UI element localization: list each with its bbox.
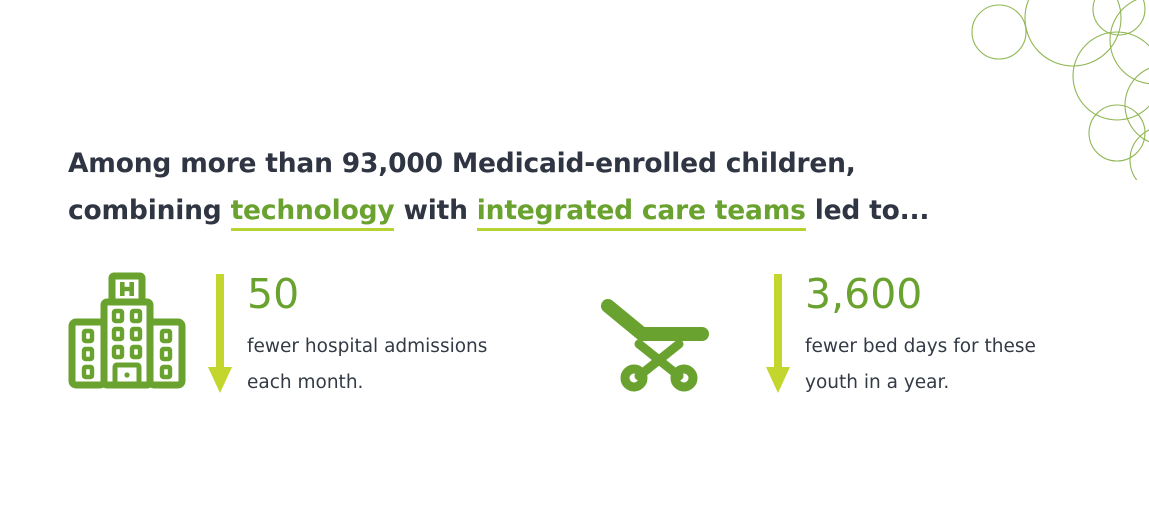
page-title: Among more than 93,000 Medicaid-enrolled… bbox=[68, 140, 968, 234]
stat-block-hospital-admissions: 50 fewer hospital admissions each month. bbox=[68, 270, 487, 401]
stat-number: 50 bbox=[247, 270, 487, 318]
hospital-gurney-icon bbox=[598, 292, 713, 392]
stat-description-line-2: youth in a year. bbox=[805, 365, 1036, 401]
door-knob bbox=[124, 372, 129, 377]
headline-line1-text: Among more than 93,000 Medicaid-enrolled… bbox=[68, 148, 856, 179]
stat-icon-container bbox=[68, 270, 186, 395]
infographic-slide: Among more than 93,000 Medicaid-enrolled… bbox=[0, 0, 1149, 515]
down-arrow-icon bbox=[207, 274, 233, 394]
stat-description: fewer bed days for these youth in a year… bbox=[805, 329, 1036, 401]
gurney-wheel-right bbox=[675, 369, 693, 387]
stat-icon-container bbox=[598, 270, 713, 392]
down-arrow-container bbox=[203, 274, 237, 394]
stat-description: fewer hospital admissions each month. bbox=[247, 329, 487, 401]
stat-description-line-1: fewer bed days for these bbox=[805, 329, 1036, 365]
link-technology[interactable]: technology bbox=[231, 195, 395, 228]
stat-number: 3,600 bbox=[805, 270, 1036, 318]
stat-description-line-1: fewer hospital admissions bbox=[247, 329, 487, 365]
stat-text-container: 3,600 fewer bed days for these youth in … bbox=[805, 270, 1036, 401]
headline-line-2: combining technology with integrated car… bbox=[68, 187, 968, 234]
link-integrated-care-teams[interactable]: integrated care teams bbox=[477, 195, 806, 228]
headline-line2-middle: with bbox=[394, 195, 476, 226]
headline-line2-prefix: combining bbox=[68, 195, 231, 226]
stat-text-container: 50 fewer hospital admissions each month. bbox=[247, 270, 487, 401]
down-arrow-container bbox=[761, 274, 795, 394]
down-arrow-icon bbox=[765, 274, 791, 394]
headline-line-1: Among more than 93,000 Medicaid-enrolled… bbox=[68, 140, 968, 187]
circle-pattern-decoration bbox=[949, 0, 1149, 180]
hospital-building-icon bbox=[68, 270, 186, 395]
stat-description-line-2: each month. bbox=[247, 365, 487, 401]
gurney-wheel-left bbox=[625, 369, 643, 387]
decorative-circles-svg bbox=[949, 0, 1149, 180]
stat-block-bed-days: 3,600 fewer bed days for these youth in … bbox=[598, 270, 1036, 401]
headline-line2-suffix: led to... bbox=[806, 195, 930, 226]
hospital-h-letter bbox=[120, 282, 134, 296]
